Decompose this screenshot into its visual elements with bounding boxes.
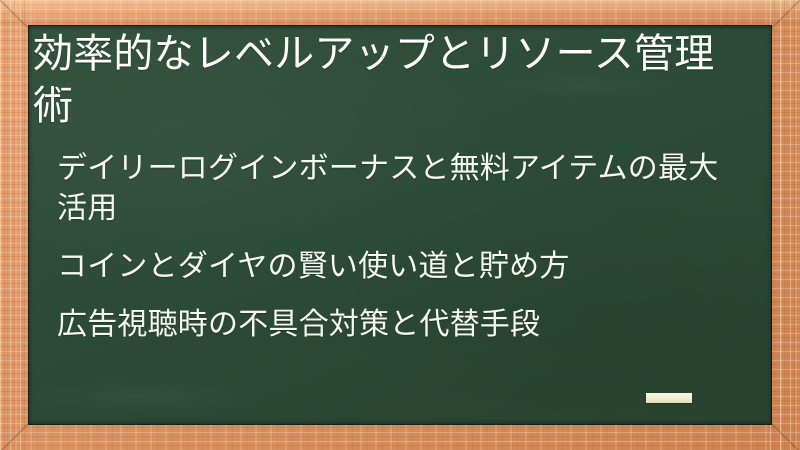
frame-miter-bottom-left bbox=[0, 422, 30, 450]
chalkboard-surface: 効率的なレベルアップとリソース管理術 デイリーログインボーナスと無料アイテムの最… bbox=[28, 25, 772, 425]
chalkboard-slide: 効率的なレベルアップとリソース管理術 デイリーログインボーナスと無料アイテムの最… bbox=[0, 0, 800, 450]
bullet-list: デイリーログインボーナスと無料アイテムの最大活用 コインとダイヤの賢い使い道と貯… bbox=[57, 149, 747, 345]
bullet-item: 広告視聴時の不具合対策と代替手段 bbox=[57, 305, 747, 345]
frame-miter-top-left bbox=[0, 0, 30, 30]
bullet-item: コインとダイヤの賢い使い道と貯め方 bbox=[57, 247, 747, 287]
chalk-stick-icon bbox=[646, 393, 692, 403]
frame-left-rail bbox=[0, 0, 28, 450]
frame-miter-top-right bbox=[770, 0, 800, 30]
frame-right-rail bbox=[770, 0, 800, 450]
frame-miter-bottom-right bbox=[770, 422, 800, 450]
bullet-item: デイリーログインボーナスと無料アイテムの最大活用 bbox=[57, 149, 747, 229]
frame-top-rail bbox=[0, 0, 800, 25]
slide-title: 効率的なレベルアップとリソース管理術 bbox=[33, 28, 745, 132]
board-content: 効率的なレベルアップとリソース管理術 デイリーログインボーナスと無料アイテムの最… bbox=[28, 25, 772, 425]
